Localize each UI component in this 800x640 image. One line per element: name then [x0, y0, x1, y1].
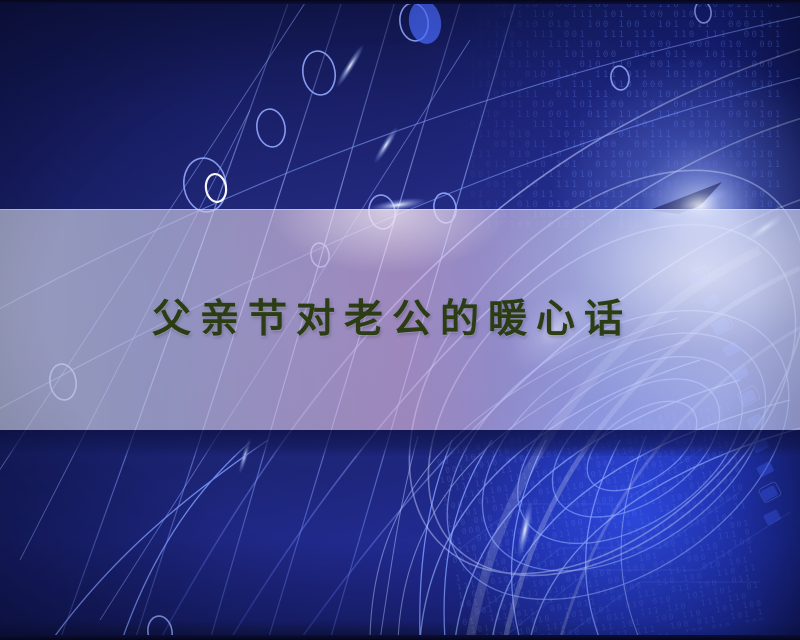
node-ring-filled — [406, 0, 444, 46]
title-container: 父亲节对老公的暖心话 — [0, 209, 800, 430]
top-edge-line — [0, 0, 800, 4]
bottom-edge-line — [0, 635, 800, 640]
banner-image: 110 010 001 100 011 110 000 011 01 00 10… — [0, 0, 800, 640]
page-title: 父亲节对老公的暖心话 — [152, 300, 632, 339]
